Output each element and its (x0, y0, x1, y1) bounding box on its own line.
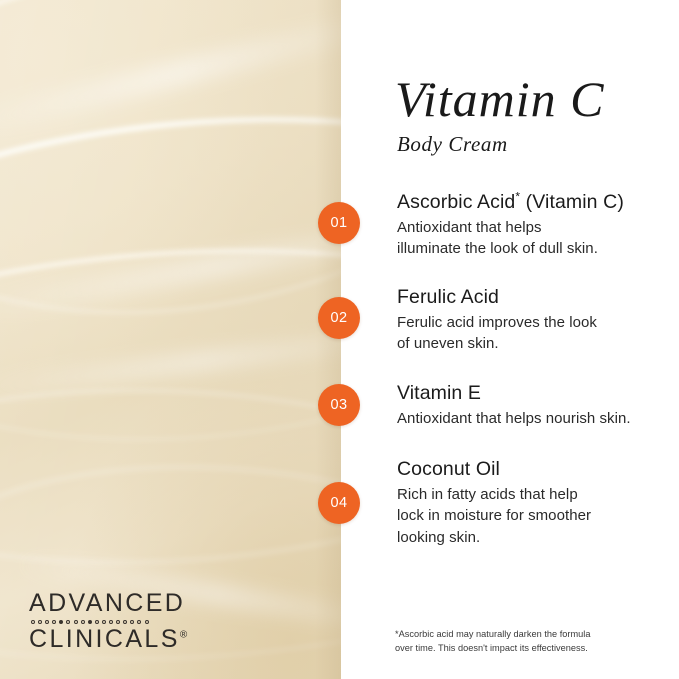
footnote: *Ascorbic acid may naturally darken the … (395, 628, 645, 656)
ingredient-badge-03: 03 (318, 384, 360, 426)
logo-dot-filled (88, 620, 92, 624)
cream-shading-overlay (0, 0, 341, 679)
page-subtitle: Body Cream (397, 134, 508, 155)
logo-dot (116, 620, 120, 624)
logo-dot (45, 620, 49, 624)
ingredient-description: Ferulic acid improves the look of uneven… (397, 312, 667, 355)
ingredient-badge-04: 04 (318, 482, 360, 524)
description-line: Rich in fatty acids that help (397, 484, 667, 505)
footnote-line: over time. This doesn't impact its effec… (395, 642, 645, 656)
ingredient-badge-01: 01 (318, 202, 360, 244)
description-line: lock in moisture for smoother (397, 505, 667, 526)
ingredient-item-3: Vitamin E Antioxidant that helps nourish… (397, 381, 667, 429)
ingredient-item-4: Coconut Oil Rich in fatty acids that hel… (397, 457, 667, 548)
logo-dot (130, 620, 134, 624)
logo-dot (145, 620, 149, 624)
ingredient-title: Ferulic Acid (397, 285, 667, 310)
logo-dot (52, 620, 56, 624)
description-line: Ferulic acid improves the look (397, 312, 667, 333)
ingredient-badge-02: 02 (318, 297, 360, 339)
description-line: illuminate the look of dull skin. (397, 238, 667, 259)
ingredient-description: Antioxidant that helps illuminate the lo… (397, 217, 667, 260)
brand-logo-line-2-text: CLINICALS (29, 625, 180, 653)
brand-logo-line-1: ADVANCED (29, 591, 187, 617)
logo-dot (31, 620, 35, 624)
ingredient-title-text: Vitamin E (397, 382, 481, 404)
logo-dot (137, 620, 141, 624)
logo-dot (123, 620, 127, 624)
description-line: Antioxidant that helps nourish skin. (397, 408, 667, 429)
ingredient-title: Coconut Oil (397, 457, 667, 482)
ingredient-title-text: Coconut Oil (397, 458, 500, 480)
logo-dot (38, 620, 42, 624)
ingredient-title-text: Ascorbic Acid (397, 191, 515, 213)
brand-logo: ADVANCED CLINICALS® (29, 591, 187, 652)
ingredient-description: Rich in fatty acids that help lock in mo… (397, 484, 667, 548)
description-line: Antioxidant that helps (397, 217, 667, 238)
ingredient-title: Vitamin E (397, 381, 667, 406)
ingredient-item-2: Ferulic Acid Ferulic acid improves the l… (397, 285, 667, 355)
logo-dot (74, 620, 78, 624)
footnote-line: *Ascorbic acid may naturally darken the … (395, 628, 645, 642)
description-line: of uneven skin. (397, 333, 667, 354)
ingredient-description: Antioxidant that helps nourish skin. (397, 408, 667, 429)
logo-dot (95, 620, 99, 624)
ingredient-title-suffix: (Vitamin C) (520, 191, 624, 213)
cream-texture-photo: ADVANCED CLINICALS® (0, 0, 341, 679)
ingredient-title: Ascorbic Acid* (Vitamin C) (397, 190, 667, 215)
logo-dot (66, 620, 70, 624)
text-panel: Vitamin C Body Cream Ascorbic Acid* (Vit… (341, 0, 679, 679)
page-title: Vitamin C (395, 74, 604, 124)
registered-trademark-icon: ® (180, 629, 187, 640)
logo-dot (102, 620, 106, 624)
ingredient-title-text: Ferulic Acid (397, 286, 499, 308)
description-line: looking skin. (397, 527, 667, 548)
logo-dot-filled (59, 620, 63, 624)
logo-dot (109, 620, 113, 624)
ingredient-item-1: Ascorbic Acid* (Vitamin C) Antioxidant t… (397, 190, 667, 260)
logo-dot (81, 620, 85, 624)
product-infographic: ADVANCED CLINICALS® (0, 0, 679, 679)
brand-logo-line-2: CLINICALS® (29, 627, 187, 653)
panel-edge-shadow (315, 0, 341, 679)
